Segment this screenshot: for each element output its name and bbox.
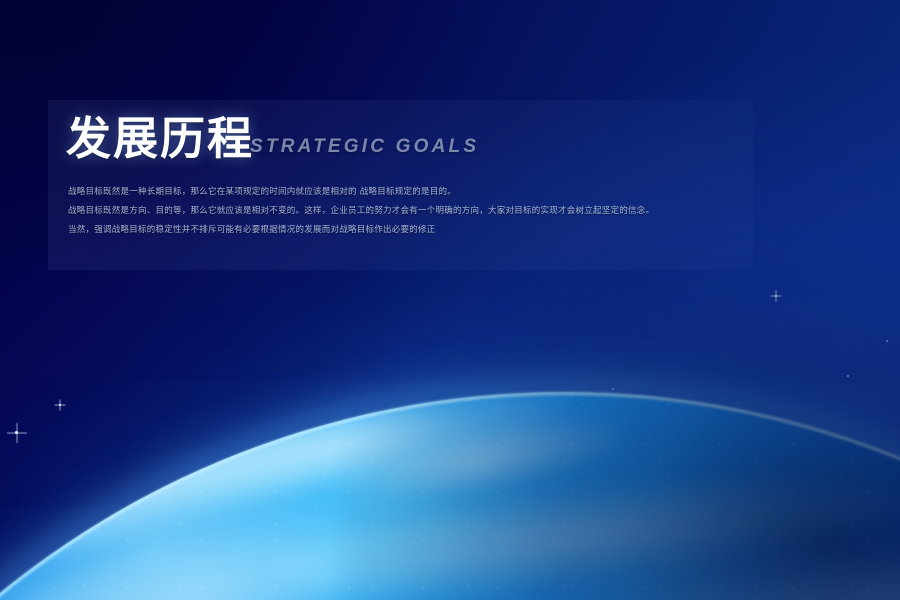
page-subtitle: STRATEGIC GOALS (250, 136, 479, 158)
hero-banner: 发展历程 STRATEGIC GOALS 战略目标既然是一种长期目标，那么它在某… (0, 0, 900, 600)
headline-group: 发展历程 STRATEGIC GOALS (66, 116, 479, 161)
body-paragraph: 战略目标既然是一种长期目标，那么它在某项规定的时间内就应该是相对的 战略目标规定… (68, 186, 748, 199)
earth-graphic (0, 0, 900, 600)
page-title: 发展历程 (66, 116, 254, 161)
body-paragraph: 当然，强调战略目标的稳定性并不排斥可能有必要根据情况的发展而对战略目标作出必要的… (68, 224, 748, 237)
body-paragraph: 战略目标既然是方向、目的等，那么它就应该是相对不变的。这样，企业员工的努力才会有… (68, 205, 748, 218)
body-copy: 战略目标既然是一种长期目标，那么它在某项规定的时间内就应该是相对的 战略目标规定… (68, 186, 748, 237)
